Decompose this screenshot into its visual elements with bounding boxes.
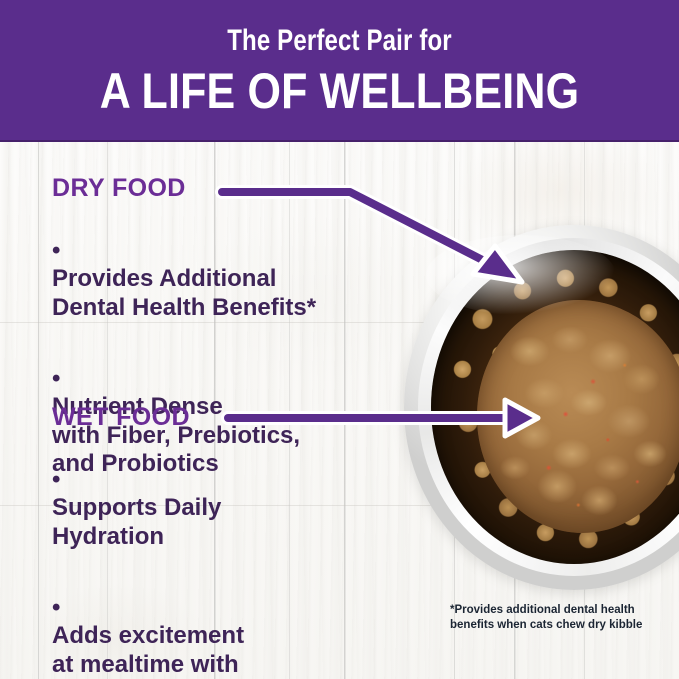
wet-food-bullet-list: • Supports Daily Hydration • Adds excite… [52, 437, 412, 679]
list-item-text: Adds excitement at mealtime with differe… [52, 622, 244, 679]
bullet-dot: • [52, 466, 60, 493]
header-banner: The Perfect Pair for A LIFE OF WELLBEING [0, 0, 679, 141]
list-item: • Adds excitement at mealtime with diffe… [52, 565, 412, 679]
header-subtitle: The Perfect Pair for [68, 24, 611, 58]
list-item-text: Supports Daily Hydration [52, 494, 221, 550]
list-item: • Supports Daily Hydration [52, 437, 412, 551]
footnote-text: *Provides additional dental health benef… [450, 603, 665, 632]
header-title: A LIFE OF WELLBEING [48, 64, 632, 118]
wet-food-section: WET FOOD • Supports Daily Hydration • Ad… [52, 403, 412, 679]
bullet-dot: • [52, 594, 60, 621]
list-item-text: Provides Additional Dental Health Benefi… [52, 265, 316, 321]
cat-food-bowl-photo [404, 225, 679, 595]
wet-food-heading: WET FOOD [52, 403, 412, 431]
list-item: • Provides Additional Dental Health Bene… [52, 208, 412, 322]
bullet-dot: • [52, 365, 60, 392]
promo-infographic: The Perfect Pair for A LIFE OF WELLBEING… [0, 0, 679, 679]
bullet-dot: • [52, 237, 60, 264]
dry-food-heading: DRY FOOD [52, 174, 412, 202]
wet-food-gravy [477, 300, 679, 532]
header-divider [0, 140, 679, 142]
